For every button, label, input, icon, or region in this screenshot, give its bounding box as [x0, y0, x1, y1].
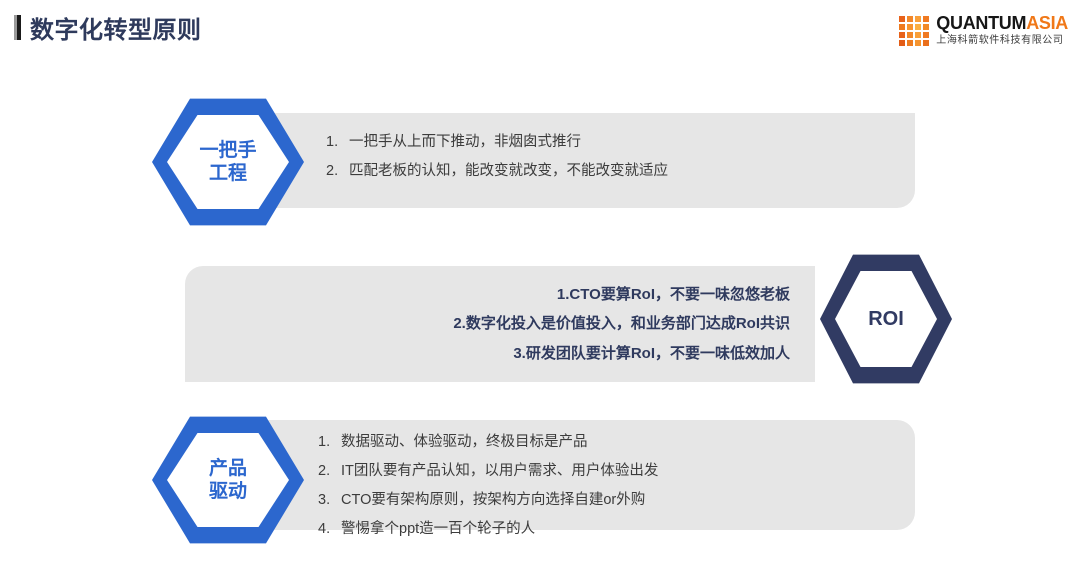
text-line: 3.研发团队要计算RoI，不要一味低效加人	[453, 339, 790, 368]
logo-subtitle: 上海科箭软件科技有限公司	[936, 36, 1068, 46]
list-item-number: 1.	[318, 428, 332, 457]
list-item: 4. 警惕拿个ppt造一百个轮子的人	[318, 515, 658, 544]
logo-word: QUANTUMASIA	[936, 14, 1068, 32]
list-item: 1. 数据驱动、体验驱动，终极目标是产品	[318, 428, 658, 457]
text-block-row-2: 1.CTO要算RoI，不要一味忽悠老板 2.数字化投入是价值投入，和业务部门达成…	[453, 280, 790, 368]
hexagon-badge-row-3: 产品 驱动	[152, 414, 304, 546]
page-title-text: 数字化转型原则	[30, 10, 202, 45]
hexagon-badge-row-1: 一把手 工程	[152, 96, 304, 228]
bullet-list-row-1: 1. 一把手从上而下推动，非烟囱式推行 2. 匹配老板的认知，能改变就改变，不能…	[326, 128, 668, 186]
list-item-text: IT团队要有产品认知，以用户需求、用户体验出发	[341, 457, 658, 486]
logo-wordmark: QUANTUMASIA 上海科箭软件科技有限公司	[936, 14, 1068, 46]
company-logo: QUANTUMASIA 上海科箭软件科技有限公司	[899, 14, 1068, 46]
text-line: 1.CTO要算RoI，不要一味忽悠老板	[453, 280, 790, 309]
list-item-number: 2.	[326, 157, 340, 186]
list-item: 3. CTO要有架构原则，按架构方向选择自建or外购	[318, 486, 658, 515]
page-title: 数字化转型原则	[14, 10, 202, 45]
list-item-text: 匹配老板的认知，能改变就改变，不能改变就适应	[349, 157, 668, 186]
logo-word-primary: QUANTUM	[936, 13, 1026, 33]
hexagon-label-row-2: ROI	[868, 307, 904, 331]
list-item-text: 一把手从上而下推动，非烟囱式推行	[349, 128, 581, 157]
hexagon-badge-row-2: ROI	[820, 252, 952, 386]
list-item-number: 3.	[318, 486, 332, 515]
list-item-text: 警惕拿个ppt造一百个轮子的人	[341, 515, 535, 544]
logo-square-grid-icon	[899, 16, 929, 46]
list-item: 2. 匹配老板的认知，能改变就改变，不能改变就适应	[326, 157, 668, 186]
bullet-list-row-3: 1. 数据驱动、体验驱动，终极目标是产品 2. IT团队要有产品认知，以用户需求…	[318, 428, 658, 544]
hexagon-label-row-1: 一把手 工程	[199, 139, 256, 185]
list-item-number: 1.	[326, 128, 340, 157]
logo-word-accent: ASIA	[1026, 13, 1068, 33]
title-bar-marker-icon	[14, 15, 21, 40]
list-item: 1. 一把手从上而下推动，非烟囱式推行	[326, 128, 668, 157]
hexagon-label-row-3: 产品 驱动	[209, 457, 247, 503]
list-item-number: 2.	[318, 457, 332, 486]
list-item-number: 4.	[318, 515, 332, 544]
list-item: 2. IT团队要有产品认知，以用户需求、用户体验出发	[318, 457, 658, 486]
list-item-text: 数据驱动、体验驱动，终极目标是产品	[341, 428, 588, 457]
list-item-text: CTO要有架构原则，按架构方向选择自建or外购	[341, 486, 645, 515]
text-line: 2.数字化投入是价值投入，和业务部门达成RoI共识	[453, 309, 790, 338]
